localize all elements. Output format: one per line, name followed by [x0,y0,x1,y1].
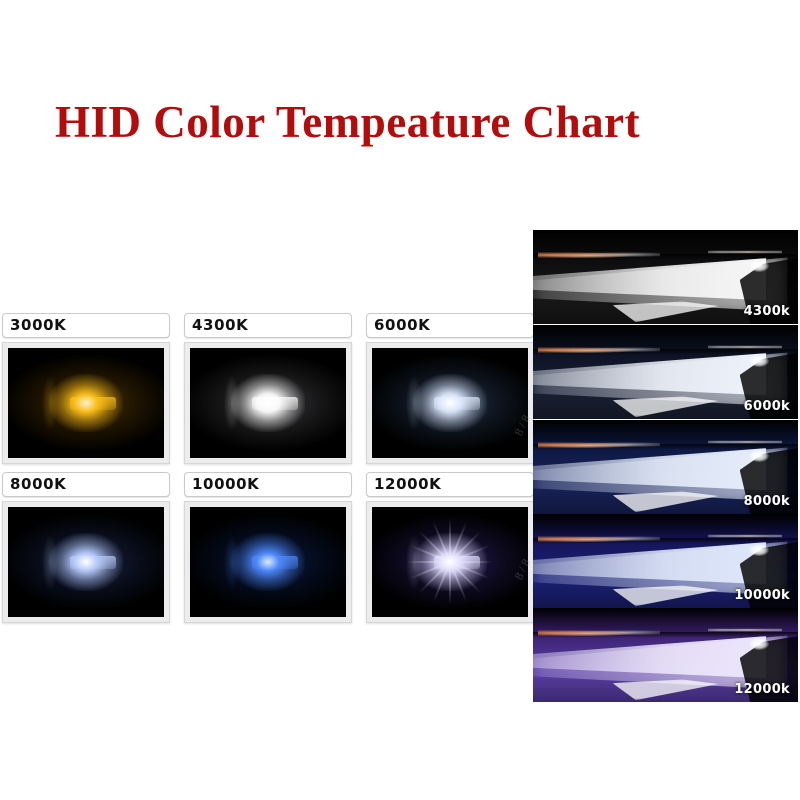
road-city-lights-left [538,629,660,637]
road-label-6000: 6000k [744,399,790,414]
bulb-label-10000: 10000K [192,477,259,492]
bulb-label-3000: 3000K [10,318,66,333]
bulb-cell-12000: 12000K [366,472,534,623]
bulb-photo-4300 [190,348,346,458]
bulb-comparison-grid: 3000K4300K6000K8000K10000K12000K [0,310,535,620]
bulb-cell-4300: 4300K [184,313,352,464]
road-label-4300: 4300k [744,304,790,319]
bulb-photo-frame-12000 [366,501,534,623]
road-headlight [749,355,769,367]
road-headlight [749,638,769,650]
road-city-lights-left [538,535,660,543]
road-city-lights-right [708,249,782,256]
road-beam-column: 4300k6000k8000k10000k12000k [533,230,798,700]
bulb-cell-6000: 6000K [366,313,534,464]
bulb-photo-6000 [372,348,528,458]
bulb-photo-frame-3000 [2,342,170,464]
bulb-photo-3000 [8,348,164,458]
road-cell-4300: 4300k [533,230,798,324]
bulb-cell-3000: 3000K [2,313,170,464]
road-label-10000: 10000k [734,588,790,603]
road-headlight [749,260,769,272]
bulb-cell-10000: 10000K [184,472,352,623]
road-scene: 6000k [533,325,798,419]
bulb-arc-core [413,533,487,591]
bulb-photo-frame-10000 [184,501,352,623]
bulb-photo-frame-6000 [366,342,534,464]
road-scene: 4300k [533,230,798,324]
road-scene: 10000k [533,514,798,608]
bulb-arc-core [49,533,123,591]
road-cell-6000: 6000k [533,325,798,419]
bulb-label-box-12000: 12000K [366,472,534,497]
bulb-label-box-4300: 4300K [184,313,352,338]
road-cell-8000: 8000k [533,420,798,514]
road-city-lights-left [538,346,660,354]
bulb-photo-frame-8000 [2,501,170,623]
bulb-label-box-10000: 10000K [184,472,352,497]
bulb-photo-12000 [372,507,528,617]
bulb-label-12000: 12000K [374,477,441,492]
road-city-lights-left [538,441,660,449]
bulb-label-4300: 4300K [192,318,248,333]
road-label-12000: 12000k [734,682,790,697]
road-headlight [749,544,769,556]
bulb-label-box-8000: 8000K [2,472,170,497]
road-city-lights-right [708,533,782,540]
bulb-arc-core [49,374,123,432]
road-city-lights-left [538,251,660,259]
bulb-label-box-3000: 3000K [2,313,170,338]
bulb-label-6000: 6000K [374,318,430,333]
page-title: HID Color Tempeature Chart [55,96,640,148]
bulb-photo-8000 [8,507,164,617]
road-cell-10000: 10000k [533,514,798,608]
road-scene: 8000k [533,420,798,514]
road-scene: 12000k [533,608,798,702]
road-city-lights-right [708,344,782,351]
road-label-8000: 8000k [744,494,790,509]
bulb-label-box-6000: 6000K [366,313,534,338]
bulb-arc-core [231,374,305,432]
road-city-lights-right [708,439,782,446]
bulb-photo-frame-4300 [184,342,352,464]
bulb-cell-8000: 8000K [2,472,170,623]
bulb-photo-10000 [190,507,346,617]
bulb-label-8000: 8000K [10,477,66,492]
road-cell-12000: 12000k [533,608,798,702]
bulb-arc-core [413,374,487,432]
bulb-arc-core [231,533,305,591]
road-headlight [749,450,769,462]
road-city-lights-right [708,627,782,634]
